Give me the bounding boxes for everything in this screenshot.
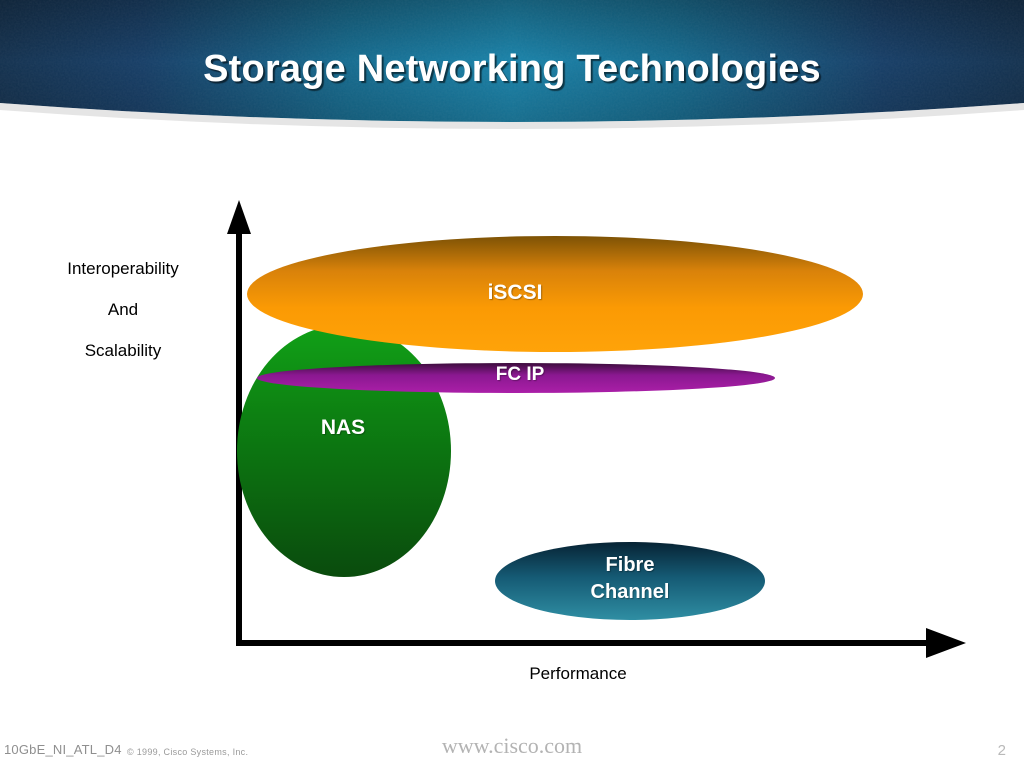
page-title: Storage Networking Technologies — [0, 48, 1024, 91]
y-axis-arrowhead — [227, 200, 251, 234]
x-axis-label: Performance — [455, 664, 701, 684]
y-axis-label: Interoperability And Scalability — [32, 248, 214, 371]
bubble-fcip[interactable] — [257, 363, 775, 393]
technology-positioning-chart: Interoperability And Scalability Perform… — [0, 136, 1024, 706]
slide-footer: 10GbE_NI_ATL_D4 © 1999, Cisco Systems, I… — [0, 706, 1024, 768]
chart-canvas — [0, 136, 1024, 706]
y-axis-label-line-2: And — [32, 289, 214, 330]
bubble-nas[interactable] — [237, 325, 451, 577]
bubble-iscsi[interactable] — [247, 236, 863, 352]
y-axis-label-line-1: Interoperability — [32, 248, 214, 289]
footer-page-number: 2 — [998, 742, 1006, 759]
footer-url: www.cisco.com — [0, 733, 1024, 759]
y-axis-label-line-3: Scalability — [32, 330, 214, 371]
x-axis-arrowhead — [926, 628, 966, 658]
bubble-fibre-channel[interactable] — [495, 542, 765, 620]
slide-header: Storage Networking Technologies — [0, 0, 1024, 136]
